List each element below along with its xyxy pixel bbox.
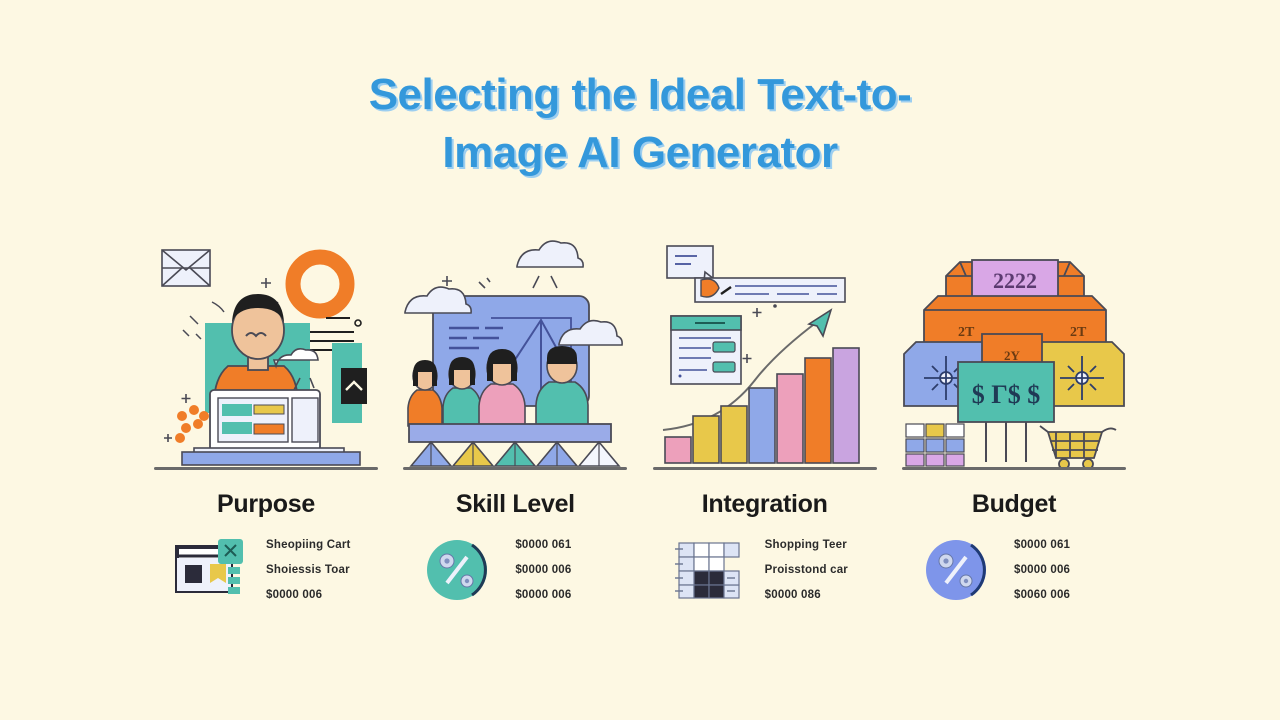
cloud-icon-left <box>405 287 471 313</box>
arrow-head-icon <box>809 310 831 336</box>
meta-line: $0000 061 <box>515 539 571 551</box>
meta-lines-skill-level: $0000 061 $0000 006 $0000 006 <box>515 539 571 601</box>
panel-label-skill-level: Skill Level <box>399 490 631 519</box>
browser-window-swatch-icon <box>176 539 252 601</box>
price-sign-teal: $ Г$ $ <box>958 362 1054 422</box>
orange-dots-decoration <box>175 405 209 443</box>
form-card-icon <box>671 316 741 384</box>
meta-line: Shoiessis Toar <box>266 564 351 576</box>
meta-line: $0000 006 <box>515 589 571 601</box>
ground-line <box>403 467 627 470</box>
dark-panel <box>341 368 367 404</box>
panel-purpose: Purpose Sheopiing Cart Shoiess <box>150 238 382 638</box>
decorative-sparkles <box>742 308 761 363</box>
meta-line: Shopping Teer <box>765 539 848 551</box>
meta-line: $0060 006 <box>1014 589 1070 601</box>
laptop-icon <box>210 390 320 452</box>
ground-line <box>902 467 1126 470</box>
page-title-line-2: Image AI Generator <box>0 124 1280 182</box>
orange-ring-icon <box>293 257 347 311</box>
bench-bar <box>409 424 611 442</box>
meta-block-budget: $0000 061 $0000 006 $0060 006 <box>898 539 1130 601</box>
page-title-line-1: Selecting the Ideal Text-to- <box>0 66 1280 124</box>
panels-row: Purpose Sheopiing Cart Shoiess <box>150 238 1130 638</box>
sign-top-lilac: 2222 <box>972 260 1058 298</box>
envelope-icon <box>162 250 210 286</box>
dot-marker <box>355 320 361 326</box>
meta-lines-integration: Shopping Teer Proisstond car $0000 086 <box>765 539 848 601</box>
triangle-row <box>411 442 619 466</box>
color-swatch-grid <box>906 424 964 466</box>
svg-text:$ Г$ $: $ Г$ $ <box>972 380 1041 409</box>
box-label-right: 2T <box>1070 325 1087 340</box>
meta-line: $0000 006 <box>266 589 351 601</box>
meta-block-skill-level: $0000 061 $0000 006 $0000 006 <box>399 539 631 601</box>
meta-line: Proisstond car <box>765 564 848 576</box>
shopping-cart-icon <box>1040 426 1116 469</box>
blue-percent-circle-icon <box>924 539 1000 601</box>
meta-line: $0000 006 <box>515 564 571 576</box>
toolbar-strip <box>695 278 845 308</box>
stacked-price-boxes-illustration: 2222 2T 2T <box>898 238 1130 470</box>
meta-line: Sheopiing Cart <box>266 539 351 551</box>
cloud-icon-top <box>517 241 583 288</box>
meta-line: $0000 061 <box>1014 539 1070 551</box>
teal-percent-circle-icon <box>425 539 501 601</box>
meta-block-purpose: Sheopiing Cart Shoiessis Toar $0000 006 <box>150 539 382 601</box>
sign-posts <box>986 422 1026 462</box>
decorative-sparkles <box>442 276 490 288</box>
svg-text:2222: 2222 <box>993 268 1037 293</box>
meta-line: $0000 086 <box>765 589 848 601</box>
svg-text:2Y: 2Y <box>1004 348 1021 363</box>
qr-grid-icon <box>675 539 751 601</box>
team-presentation-illustration <box>399 238 631 470</box>
ground-line <box>653 467 877 470</box>
panel-skill-level: Skill Level $0000 0 <box>399 238 631 638</box>
panel-label-integration: Integration <box>649 490 881 519</box>
person-at-laptop-illustration <box>150 238 382 470</box>
box-label-left: 2T <box>958 325 975 340</box>
panel-integration: Integration <box>649 238 881 638</box>
desk-base <box>182 452 360 465</box>
panel-label-purpose: Purpose <box>150 490 382 519</box>
meta-lines-budget: $0000 061 $0000 006 $0060 006 <box>1014 539 1070 601</box>
panel-budget: 2222 2T 2T <box>898 238 1130 638</box>
panel-label-budget: Budget <box>898 490 1130 519</box>
ground-line <box>154 467 378 470</box>
meta-lines-purpose: Sheopiing Cart Shoiessis Toar $0000 006 <box>266 539 351 601</box>
page-title: Selecting the Ideal Text-to- Image AI Ge… <box>0 66 1280 182</box>
meta-block-integration: Shopping Teer Proisstond car $0000 086 <box>649 539 881 601</box>
growth-bar-chart-illustration <box>649 238 881 470</box>
meta-line: $0000 006 <box>1014 564 1070 576</box>
